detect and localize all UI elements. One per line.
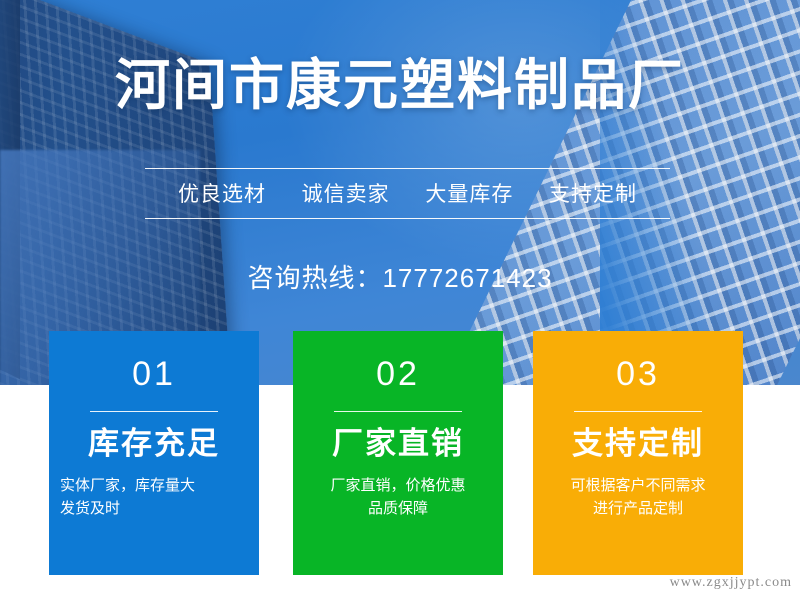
card-description-line: 实体厂家，库存量大 [60, 474, 248, 497]
tagline: 优良选材 诚信卖家 大量库存 支持定制 [145, 169, 670, 218]
feature-card-01: 01 库存充足 实体厂家，库存量大 发货及时 [49, 331, 259, 575]
tagline-item-1: 优良选材 [178, 183, 266, 206]
promo-banner: 河间市康元塑料制品厂 优良选材 诚信卖家 大量库存 支持定制 咨询热线：1777… [0, 0, 800, 597]
card-description-line: 厂家直销，价格优惠 [304, 474, 492, 497]
hotline-text: 咨询热线：17772671423 [0, 258, 800, 295]
feature-card-02: 02 厂家直销 厂家直销，价格优惠 品质保障 [293, 331, 503, 575]
card-title: 厂家直销 [293, 426, 503, 462]
card-description: 厂家直销，价格优惠 品质保障 [293, 474, 503, 521]
tagline-item-2: 诚信卖家 [302, 183, 390, 206]
tagline-rule-bottom [145, 218, 670, 219]
card-title: 支持定制 [533, 426, 743, 462]
tagline-rule-top [145, 168, 670, 169]
card-divider [574, 411, 702, 412]
card-number: 03 [533, 331, 743, 391]
feature-card-03: 03 支持定制 可根据客户不同需求 进行产品定制 [533, 331, 743, 575]
card-divider [90, 411, 218, 412]
page-title: 河间市康元塑料制品厂 [0, 55, 800, 116]
site-watermark: www.zgxjjypt.com [670, 575, 792, 591]
card-description-line: 品质保障 [304, 497, 492, 520]
card-number: 02 [293, 331, 503, 391]
card-description: 实体厂家，库存量大 发货及时 [49, 474, 259, 521]
card-description: 可根据客户不同需求 进行产品定制 [533, 474, 743, 521]
card-description-line: 进行产品定制 [544, 497, 732, 520]
card-description-line: 可根据客户不同需求 [544, 474, 732, 497]
card-title: 库存充足 [49, 426, 259, 462]
card-number: 01 [49, 331, 259, 391]
tagline-block: 优良选材 诚信卖家 大量库存 支持定制 [145, 168, 670, 219]
card-description-line: 发货及时 [60, 497, 248, 520]
card-divider [334, 411, 462, 412]
tagline-item-3: 大量库存 [425, 183, 513, 206]
tagline-item-4: 支持定制 [549, 183, 637, 206]
